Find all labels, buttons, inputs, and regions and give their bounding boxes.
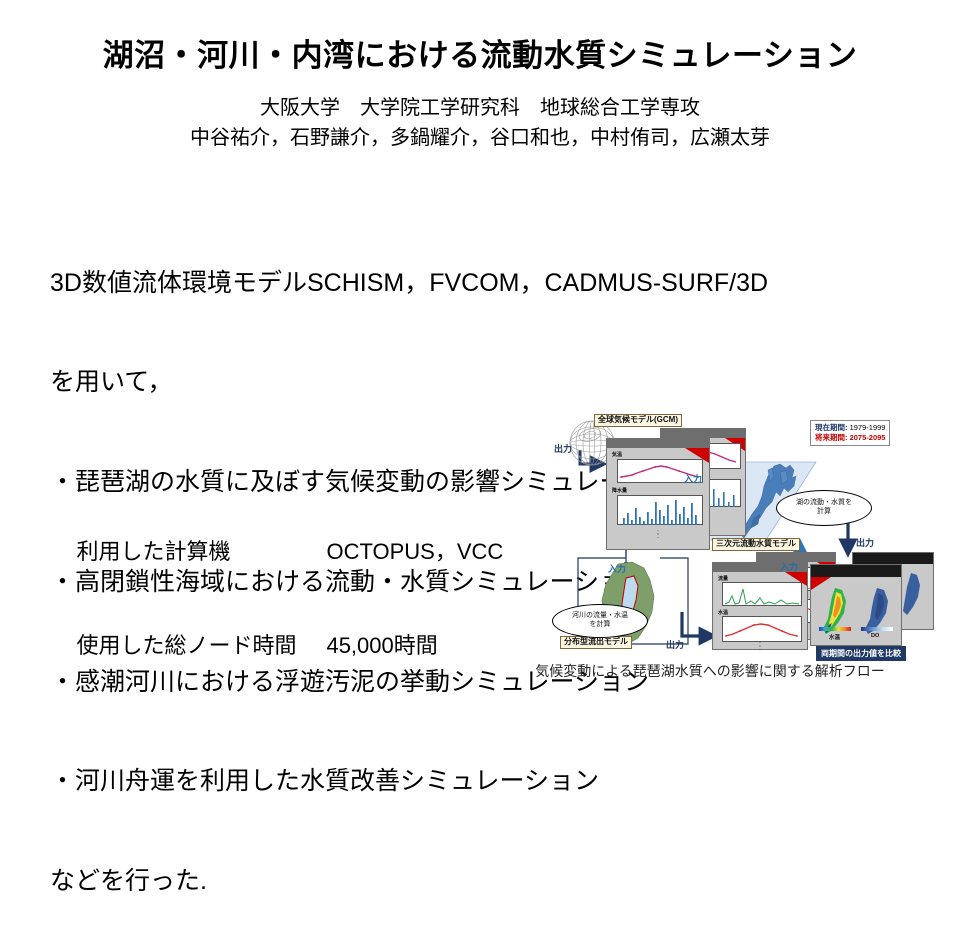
gcm-panel-stack: :: 気温 降水量	[606, 428, 746, 548]
body-line: を用いて，	[50, 366, 930, 399]
period-present-row: 現在期間: 1979-1999	[815, 423, 885, 433]
map-label-do: DO	[871, 633, 879, 639]
chart-label-discharge: 流量	[718, 575, 728, 582]
map-label-water-temp: 水温	[829, 633, 840, 641]
period-present-label: 現在期間:	[815, 423, 848, 432]
water-temp-chart	[722, 616, 802, 642]
resource-label: 使用した総ノード時間	[76, 630, 326, 661]
panel-header	[607, 439, 709, 448]
panel-header	[853, 553, 933, 564]
water-temp-colorbar	[819, 627, 851, 631]
page-title: 湖沼・河川・内湾における流動水質シミュレーション	[0, 38, 960, 74]
body-line: 3D数値流体環境モデルSCHISM，FVCOM，CADMUS-SURF/3D	[50, 267, 930, 300]
body-line: ・河川舟運を利用した水質改善シミュレーション	[50, 765, 930, 798]
arrow-label-runoff-output: 出力	[666, 638, 684, 651]
compare-banner: 両期間の出力値を比較	[816, 646, 906, 661]
compare-panel-front: 水温 DO	[810, 564, 902, 646]
discharge-chart	[722, 582, 802, 606]
gcm-panel-front: 気温 降水量	[606, 438, 710, 550]
arrow-label-gcm-output: 出力	[554, 442, 572, 455]
resource-label: 利用した計算機	[76, 536, 326, 567]
body-line: などを行った.	[50, 865, 930, 898]
output-panel-front: 流量 水温 ::	[712, 562, 808, 650]
panel-header	[661, 429, 745, 438]
chart-label-precipitation: 降水量	[612, 487, 627, 494]
resource-row: 使用した総ノード時間45,000時間	[52, 599, 503, 693]
period-legend: 現在期間: 1979-1999 将来期間: 2075-2095	[810, 420, 890, 446]
ellipsis-dots: ::	[759, 643, 761, 651]
authors-line: 中谷祐介，石野謙介，多鍋耀介，谷口和也，中村侑司，広瀬太芽	[0, 124, 960, 153]
resource-row: 利用した計算機OCTOPUS，VCC	[52, 505, 503, 599]
diagram-caption: 気候変動による琵琶湖水質への影響に関する解析フロー	[490, 661, 930, 681]
compute-resources: 利用した計算機OCTOPUS，VCC 使用した総ノード時間45,000時間	[52, 505, 503, 692]
hydro-model-label: 三次元流動水質モデル	[712, 538, 800, 551]
analysis-flow-diagram: 全球気候モデル(GCM) :: 気温	[548, 412, 948, 652]
affiliation-line: 大阪大学 大学院工学研究科 地球総合工学専攻	[0, 94, 960, 123]
gcm-label: 全球気候モデル(GCM)	[594, 414, 682, 427]
do-colorbar	[861, 627, 893, 631]
chart-label-water-temp: 水温	[718, 609, 728, 616]
arrow-label-chart-to-lake: 入力	[780, 560, 798, 573]
river-calc-ellipse: 河川の流量・水温 を計算	[552, 604, 648, 638]
panel-header	[811, 565, 901, 577]
arrow-label-lake-output: 出力	[856, 536, 874, 549]
period-future-value: 2075-2095	[850, 433, 886, 442]
chart-label-air-temp: 気温	[612, 451, 622, 458]
comparison-map-stack: 水温 DO 両期間の出力値を比較	[810, 552, 950, 652]
lake-calc-ellipse: 湖の流動・水質を 計算	[776, 490, 872, 526]
resource-value: 45,000時間	[326, 630, 437, 661]
ellipsis-dots: ::	[657, 531, 659, 539]
arrow-label-to-lake-model: 入力	[684, 472, 702, 485]
precipitation-chart	[617, 495, 703, 525]
arrow-label-gcm-to-runoff: 入力	[608, 562, 626, 575]
period-future-row: 将来期間: 2075-2095	[815, 433, 885, 443]
resource-value: OCTOPUS，VCC	[326, 536, 503, 567]
period-future-label: 将来期間:	[815, 433, 848, 442]
period-present-value: 1979-1999	[850, 423, 886, 432]
